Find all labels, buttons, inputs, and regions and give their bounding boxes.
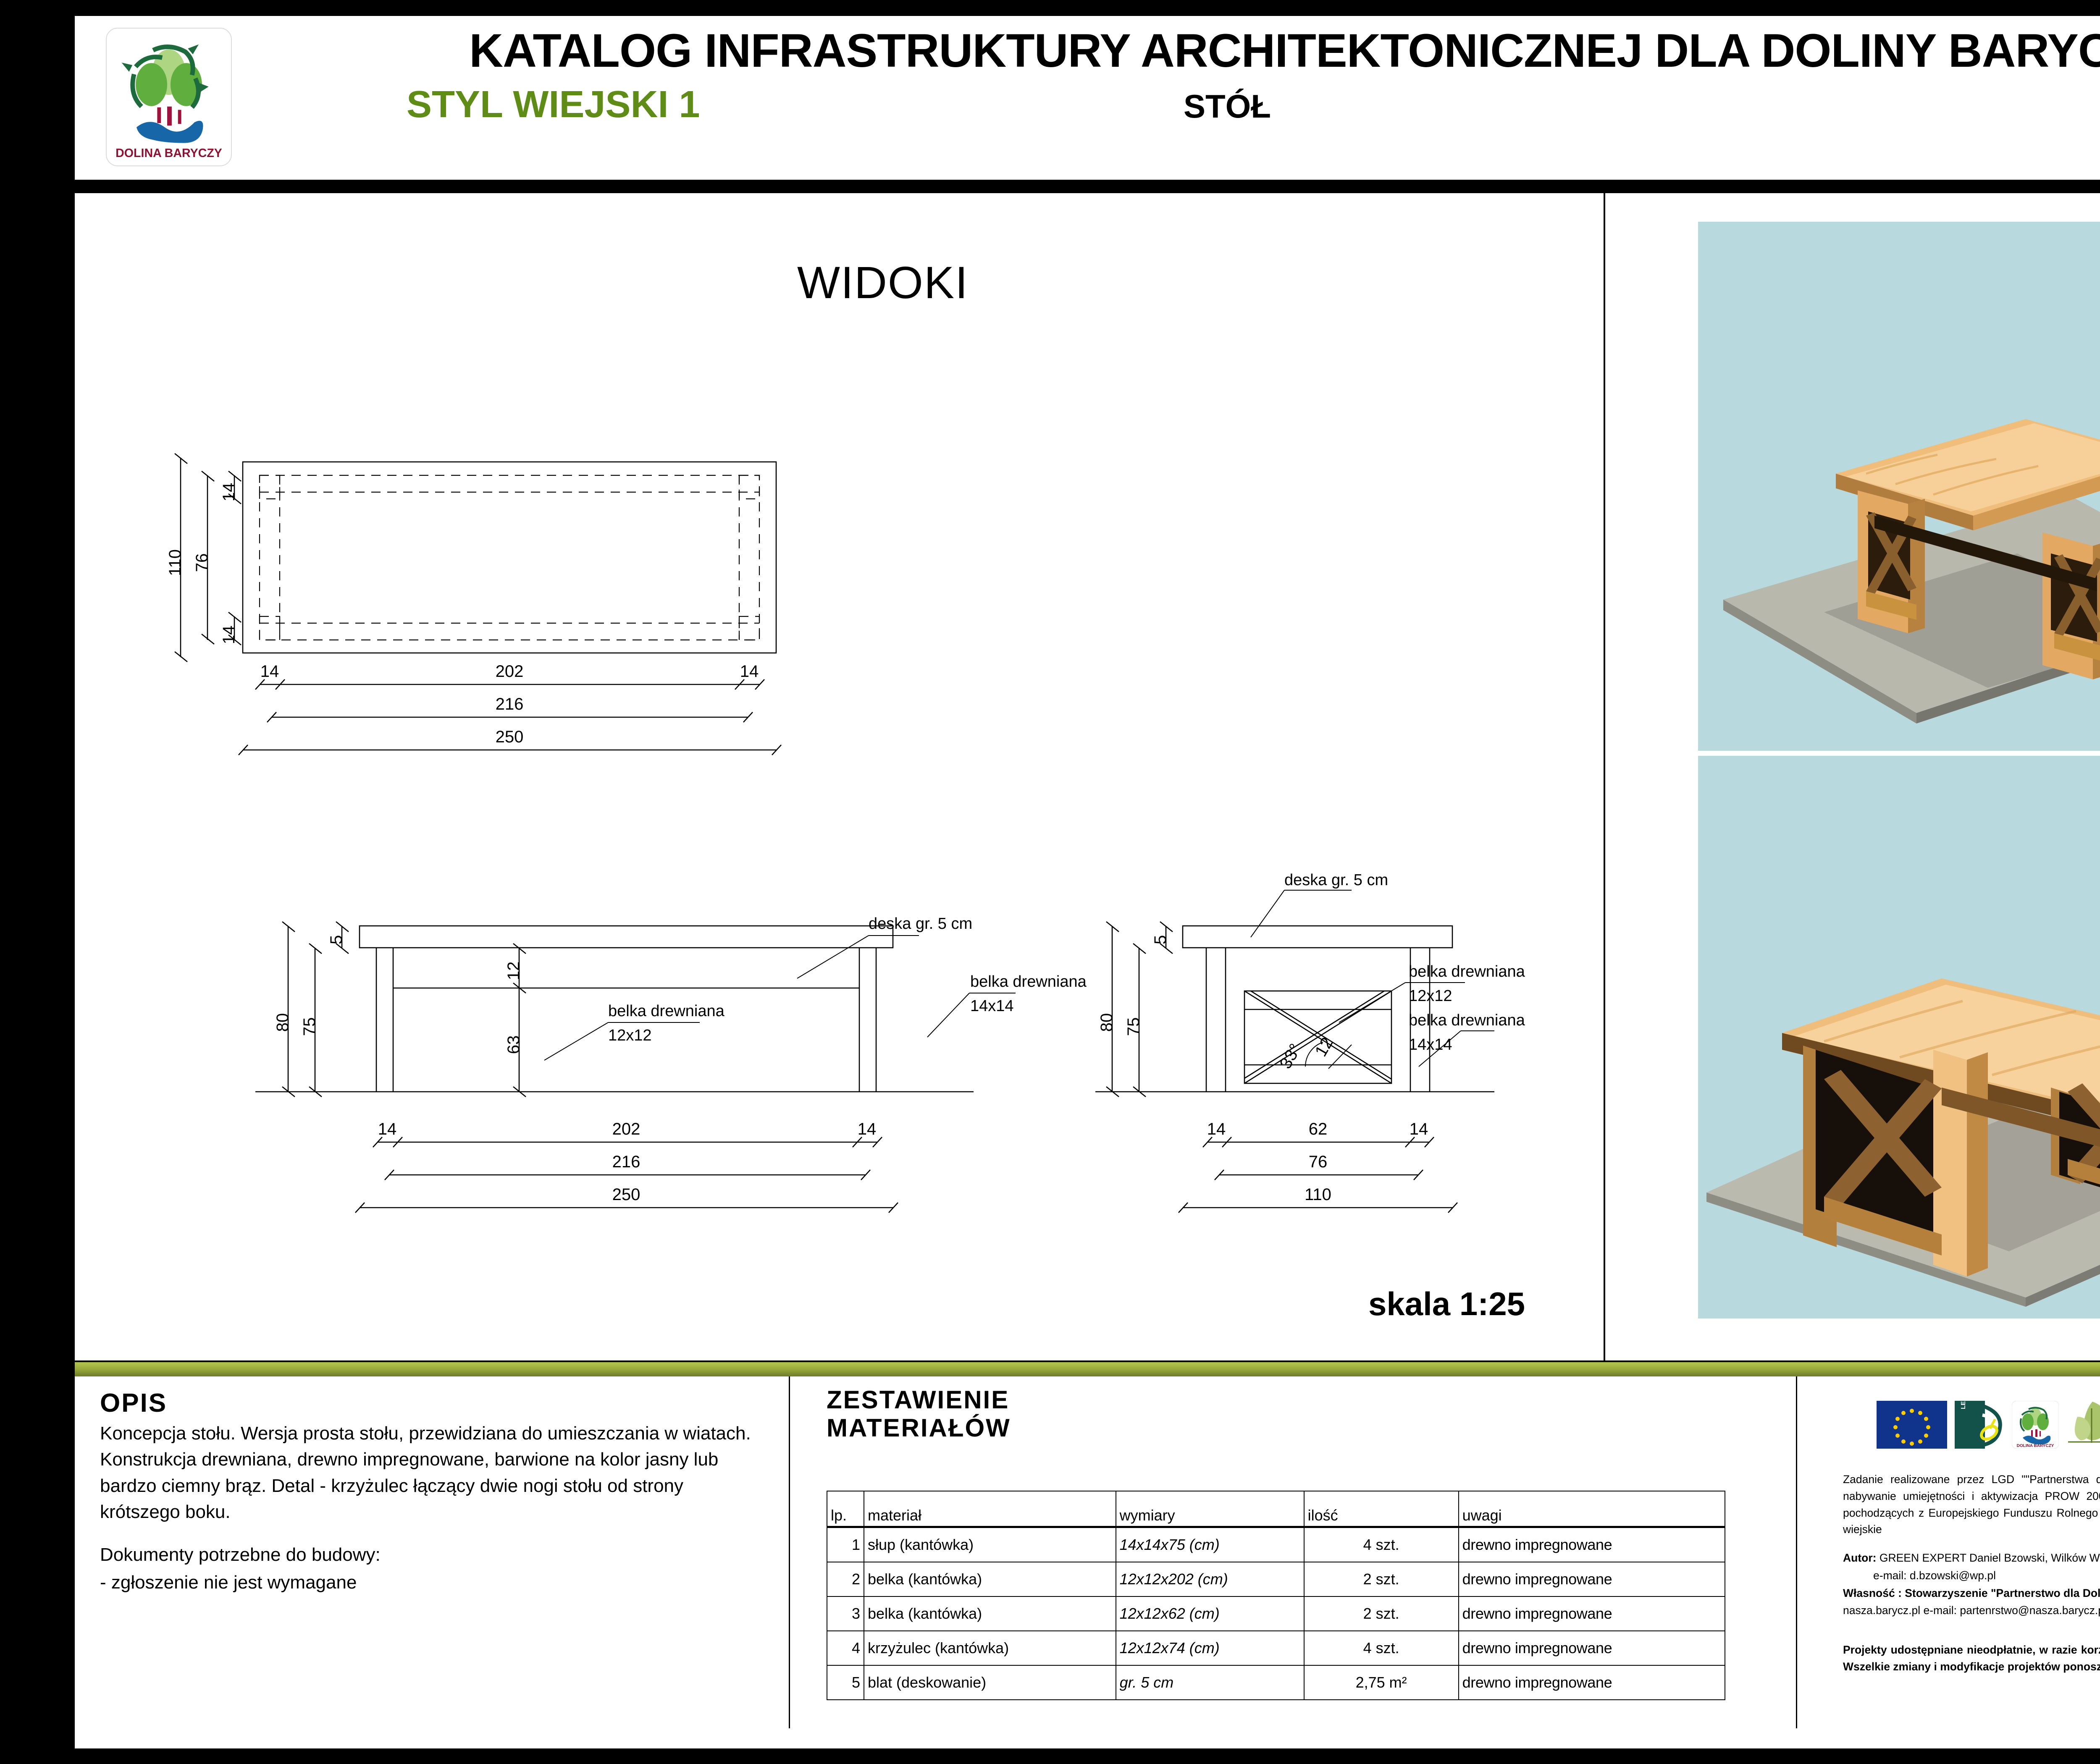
- author-value: GREEN EXPERT Daniel Bzowski, Wilków Wiel…: [1879, 1552, 2100, 1564]
- cell-lp: 5: [827, 1665, 864, 1700]
- cell-ilosc: 4 szt.: [1304, 1631, 1459, 1665]
- dim-side-14-left: 14: [1207, 1120, 1226, 1138]
- dim-top-216: 216: [496, 695, 524, 713]
- table-row: 5 blat (deskowanie) gr. 5 cm 2,75 m² dre…: [827, 1665, 1725, 1700]
- dim-side-12: 12: [1312, 1034, 1337, 1060]
- dim-top-250: 250: [496, 728, 524, 746]
- materials-title-line1: ZESTAWIENIE: [827, 1386, 1721, 1414]
- page-header: DOLINA BARYCZY KATALOG INFRASTRUKTURY AR…: [75, 16, 2100, 180]
- dim-side-75: 75: [1124, 1017, 1143, 1036]
- cell-uwagi: drewno impregnowane: [1459, 1665, 1725, 1700]
- spacer: [1843, 1620, 2100, 1631]
- footer-white-strip: [75, 1728, 2100, 1748]
- cell-lp: 3: [827, 1596, 864, 1631]
- spacer: [1843, 1539, 2100, 1550]
- leader-logo-text: LEADER: [1960, 1401, 1967, 1409]
- dim-top-14-left: 14: [260, 662, 279, 681]
- dolina-caption: DOLINA BARYCZY: [2017, 1444, 2054, 1448]
- dolina-baryczy-logo-caption: DOLINA BARYCZY: [115, 147, 222, 160]
- author-label: Autor:: [1843, 1552, 1876, 1564]
- dim-top-110: 110: [166, 549, 184, 576]
- dolina-baryczy-logo-small: DOLINA BARYCZY: [2012, 1401, 2059, 1449]
- dim-top-14-upper: 14: [220, 483, 238, 502]
- dim-top-14-right: 14: [740, 662, 759, 681]
- cell-lp: 2: [827, 1562, 864, 1596]
- dim-front-80: 80: [273, 1013, 292, 1032]
- cell-wymiary: gr. 5 cm: [1116, 1665, 1304, 1700]
- owner-label: Własność : Stowarzyszenie "Partnerstwo d…: [1843, 1587, 2100, 1599]
- render-view-top: [1698, 222, 2100, 751]
- cell-material: krzyżulec (kantówka): [864, 1631, 1116, 1665]
- cell-wymiary: 12x12x62 (cm): [1116, 1596, 1304, 1631]
- page-title: KATALOG INFRASTRUKTURY ARCHITEKTONICZNEJ…: [255, 24, 2100, 78]
- leader-logo: LEADER: [1955, 1401, 2004, 1449]
- panel-divider: [1604, 193, 1605, 1360]
- dim-side-14-right: 14: [1410, 1120, 1428, 1138]
- cell-uwagi: drewno impregnowane: [1459, 1631, 1725, 1665]
- col-material: materiał: [864, 1491, 1116, 1527]
- col-uwagi: uwagi: [1459, 1491, 1725, 1527]
- table-header-row: lp. materiał wymiary ilość uwagi: [827, 1491, 1725, 1527]
- dim-side-62: 62: [1309, 1120, 1328, 1138]
- cell-ilosc: 2,75 m²: [1304, 1665, 1459, 1700]
- label-side-beam-14: belka drewniana: [1409, 1012, 1525, 1029]
- owner-line: Własność : Stowarzyszenie "Partnerstwo d…: [1843, 1585, 2100, 1602]
- label-side-beam-14-size: 14x14: [1409, 1036, 1452, 1054]
- catalog-page: DOLINA BARYCZY KATALOG INFRASTRUKTURY AR…: [0, 0, 2100, 1764]
- cell-ilosc: 4 szt.: [1304, 1527, 1459, 1562]
- render-view-bottom: [1698, 756, 2100, 1318]
- dim-top-14-lower: 14: [220, 626, 238, 645]
- technical-drawings: 110 76 14 14 14 202 14 216 250 80 75 5 1…: [75, 193, 1604, 1360]
- materials-table: lp. materiał wymiary ilość uwagi 1 słup …: [827, 1491, 1725, 1700]
- opis-docs-item: - zgłoszenie nie jest wymagane: [100, 1569, 755, 1596]
- label-front-beam-14-size: 14x14: [970, 997, 1014, 1015]
- funding-text-block: Zadanie realizowane przez LGD ""Partners…: [1843, 1471, 2100, 1676]
- label-side-beam-12-size: 12x12: [1409, 987, 1452, 1005]
- bottom-divider-1: [789, 1376, 790, 1728]
- dim-side-80: 80: [1097, 1013, 1116, 1032]
- cell-material: belka (kantówka): [864, 1596, 1116, 1631]
- partnerstwo-dla-doliny-baryczy-logo: PARTNERSTWO DLA DOLINY BARYCZY: [2066, 1400, 2100, 1449]
- label-front-board: deska gr. 5 cm: [869, 915, 972, 933]
- table-row: 3 belka (kantówka) 12x12x62 (cm) 2 szt. …: [827, 1596, 1725, 1631]
- dim-top-76: 76: [193, 553, 211, 572]
- cell-ilosc: 2 szt.: [1304, 1562, 1459, 1596]
- dolina-baryczy-logo: DOLINA BARYCZY: [106, 28, 232, 166]
- dim-front-14-left: 14: [378, 1120, 397, 1138]
- funding-logos-row: LEADER DOLINA BARYCZY: [1877, 1386, 2100, 1464]
- dolina-baryczy-logo-icon: DOLINA BARYCZY: [107, 29, 231, 165]
- opis-documents: Dokumenty potrzebne do budowy: - zgłosze…: [100, 1541, 755, 1596]
- dim-front-216: 216: [612, 1153, 640, 1171]
- cell-uwagi: drewno impregnowane: [1459, 1596, 1725, 1631]
- label-front-beam-14: belka drewniana: [970, 973, 1087, 991]
- label-front-beam-12-size: 12x12: [608, 1027, 652, 1044]
- col-lp: lp.: [827, 1491, 864, 1527]
- green-divider-bar: [75, 1362, 2100, 1376]
- table-row: 1 słup (kantówka) 14x14x75 (cm) 4 szt. d…: [827, 1527, 1725, 1562]
- author-email: e-mail: d.bzowski@wp.pl: [1843, 1567, 2100, 1584]
- bottom-panel: OPIS Koncepcja stołu. Wersja prosta stoł…: [75, 1376, 2100, 1728]
- table-row: 4 krzyżulec (kantówka) 12x12x74 (cm) 4 s…: [827, 1631, 1725, 1665]
- materials-title-line2: MATERIAŁÓW: [827, 1414, 1721, 1442]
- dim-front-202: 202: [612, 1120, 640, 1138]
- opis-text: Koncepcja stołu. Wersja prosta stołu, pr…: [100, 1421, 755, 1525]
- col-ilosc: ilość: [1304, 1491, 1459, 1527]
- funding-paragraph: Zadanie realizowane przez LGD ""Partners…: [1843, 1471, 2100, 1538]
- cell-material: belka (kantówka): [864, 1562, 1116, 1596]
- label-front-beam-12: belka drewniana: [608, 1002, 725, 1020]
- style-label: STYL WIEJSKI 1: [407, 83, 700, 126]
- table-3d-render-2: [1698, 756, 2100, 1318]
- terms-text: Projekty udostępniane nieodpłatnie, w ra…: [1843, 1642, 2100, 1675]
- eu-flag-logo: [1877, 1401, 1947, 1449]
- dim-front-14-right: 14: [858, 1120, 877, 1138]
- cell-material: blat (deskowanie): [864, 1665, 1116, 1700]
- materials-title-block: ZESTAWIENIE MATERIAŁÓW: [827, 1386, 1721, 1442]
- dim-front-63: 63: [504, 1035, 523, 1054]
- table-3d-render-1: [1698, 222, 2100, 751]
- cell-material: słup (kantówka): [864, 1527, 1116, 1562]
- dim-side-5: 5: [1151, 935, 1170, 944]
- dim-front-5: 5: [327, 935, 346, 944]
- cell-uwagi: drewno impregnowane: [1459, 1527, 1725, 1562]
- dim-side-angle: 33°: [1276, 1041, 1305, 1072]
- opis-section: OPIS Koncepcja stołu. Wersja prosta stoł…: [100, 1388, 755, 1525]
- opis-docs-heading: Dokumenty potrzebne do budowy:: [100, 1541, 755, 1569]
- dim-side-110: 110: [1305, 1185, 1331, 1204]
- cell-ilosc: 2 szt.: [1304, 1596, 1459, 1631]
- object-label: STÓŁ: [1184, 87, 1271, 126]
- owner-contact: nasza.barycz.pl e-mail: partenrstwo@nasz…: [1843, 1602, 2100, 1619]
- bottom-divider-2: [1796, 1376, 1797, 1728]
- cell-lp: 1: [827, 1527, 864, 1562]
- cell-lp: 4: [827, 1631, 864, 1665]
- label-side-board: deska gr. 5 cm: [1284, 871, 1388, 889]
- cell-uwagi: drewno impregnowane: [1459, 1562, 1725, 1596]
- dim-side-76: 76: [1309, 1153, 1328, 1171]
- author-line: Autor: GREEN EXPERT Daniel Bzowski, Wilk…: [1843, 1550, 2100, 1567]
- dim-front-250: 250: [612, 1185, 640, 1204]
- dim-front-12: 12: [504, 962, 523, 980]
- label-side-beam-12: belka drewniana: [1409, 963, 1525, 980]
- cell-wymiary: 14x14x75 (cm): [1116, 1527, 1304, 1562]
- technical-drawing-svg: 110 76 14 14 14 202 14 216 250 80 75 5 1…: [75, 193, 1604, 1360]
- col-wymiary: wymiary: [1116, 1491, 1304, 1527]
- opis-title: OPIS: [100, 1388, 755, 1418]
- spacer: [1843, 1631, 2100, 1642]
- dim-front-75: 75: [300, 1017, 319, 1036]
- cell-wymiary: 12x12x202 (cm): [1116, 1562, 1304, 1596]
- dim-top-202: 202: [496, 662, 524, 681]
- table-row: 2 belka (kantówka) 12x12x202 (cm) 2 szt.…: [827, 1562, 1725, 1596]
- drawing-body: WIDOKI skala 1:25: [75, 193, 2100, 1360]
- cell-wymiary: 12x12x74 (cm): [1116, 1631, 1304, 1665]
